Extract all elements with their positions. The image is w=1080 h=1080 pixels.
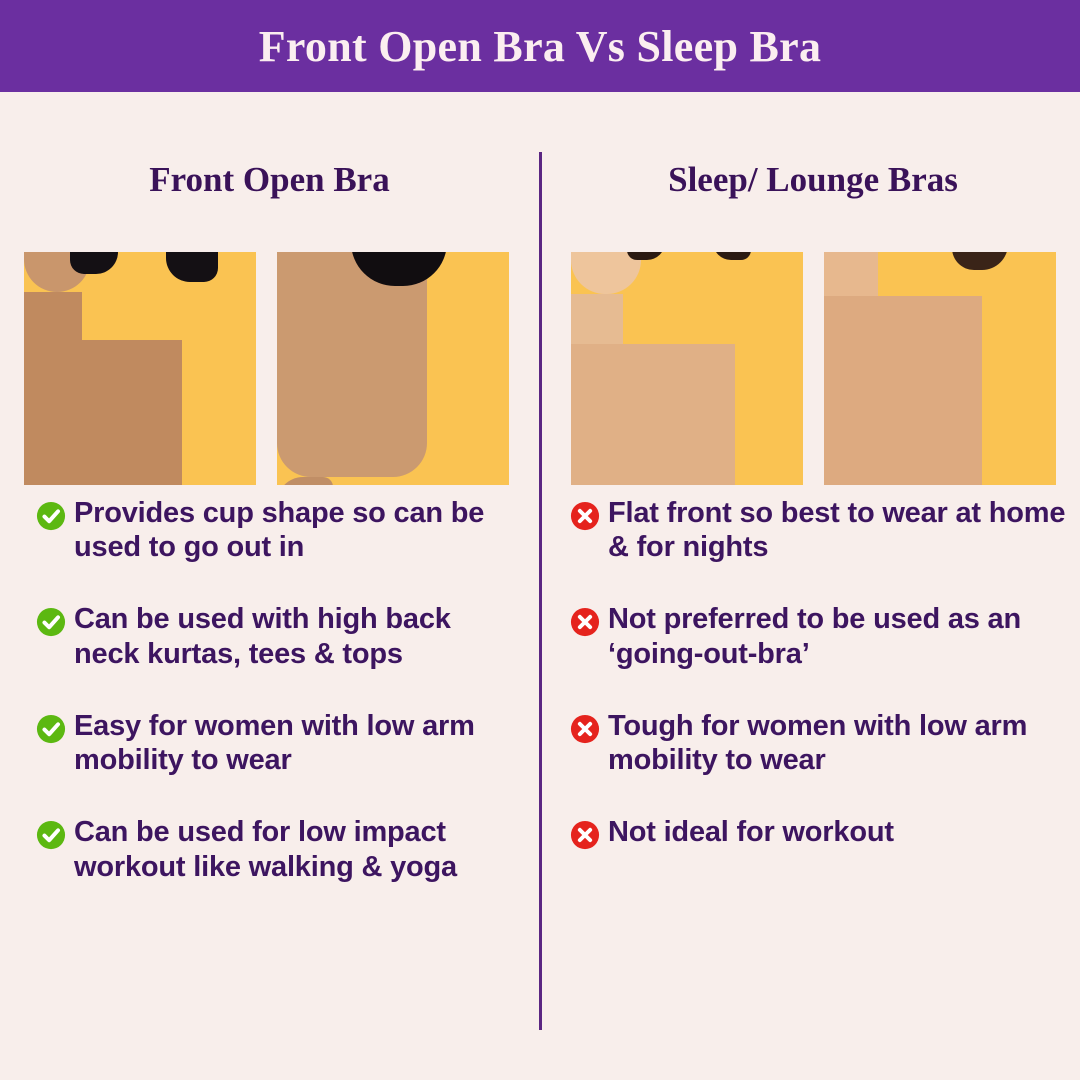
list-item-label: Tough for women with low arm mobility to… bbox=[608, 709, 1070, 777]
cross-circle-icon bbox=[570, 820, 600, 850]
list-item: Provides cup shape so can be used to go … bbox=[36, 496, 523, 564]
check-circle-icon bbox=[36, 714, 66, 744]
page-title: Front Open Bra Vs Sleep Bra bbox=[259, 21, 822, 72]
list-item: Flat front so best to wear at home & for… bbox=[570, 496, 1070, 564]
list-item-label: Provides cup shape so can be used to go … bbox=[74, 496, 523, 564]
photo-strip-sleep-lounge-bras bbox=[571, 252, 1056, 485]
bullet-list-sleep-lounge-bras: Flat front so best to wear at home & for… bbox=[570, 496, 1070, 850]
list-item: Can be used with high back neck kurtas, … bbox=[36, 602, 523, 670]
list-item-label: Not preferred to be used as an ‘going-ou… bbox=[608, 602, 1070, 670]
cross-circle-icon bbox=[570, 607, 600, 637]
photo-sleep-bra-back-view bbox=[824, 252, 1056, 485]
list-item: Tough for women with low arm mobility to… bbox=[570, 709, 1070, 777]
comparison-board: Front Open Bra bbox=[0, 92, 1080, 1080]
photo-sleep-bra-front-view bbox=[571, 252, 803, 485]
list-item: Can be used for low impact workout like … bbox=[36, 815, 523, 883]
column-divider bbox=[539, 152, 542, 1030]
photo-strip-front-open-bra bbox=[24, 252, 509, 485]
column-heading-sleep-lounge-bras: Sleep/ Lounge Bras bbox=[546, 160, 1080, 200]
list-item: Not preferred to be used as an ‘going-ou… bbox=[570, 602, 1070, 670]
column-sleep-lounge-bras: Sleep/ Lounge Bras bbox=[542, 92, 1080, 200]
column-front-open-bra: Front Open Bra bbox=[0, 92, 539, 200]
list-item-label: Can be used for low impact workout like … bbox=[74, 815, 523, 883]
photo-front-open-bra-front-view bbox=[24, 252, 256, 485]
photo-front-open-bra-back-view bbox=[277, 252, 509, 485]
cross-circle-icon bbox=[570, 501, 600, 531]
list-item-label: Can be used with high back neck kurtas, … bbox=[74, 602, 523, 670]
bullet-list-front-open-bra: Provides cup shape so can be used to go … bbox=[36, 496, 523, 884]
check-circle-icon bbox=[36, 501, 66, 531]
check-circle-icon bbox=[36, 820, 66, 850]
list-item-label: Easy for women with low arm mobility to … bbox=[74, 709, 523, 777]
header-bar: Front Open Bra Vs Sleep Bra bbox=[0, 0, 1080, 92]
list-item-label: Flat front so best to wear at home & for… bbox=[608, 496, 1070, 564]
list-item: Easy for women with low arm mobility to … bbox=[36, 709, 523, 777]
column-heading-front-open-bra: Front Open Bra bbox=[0, 160, 539, 200]
check-circle-icon bbox=[36, 607, 66, 637]
list-item-label: Not ideal for workout bbox=[608, 815, 894, 849]
list-item: Not ideal for workout bbox=[570, 815, 1070, 850]
cross-circle-icon bbox=[570, 714, 600, 744]
